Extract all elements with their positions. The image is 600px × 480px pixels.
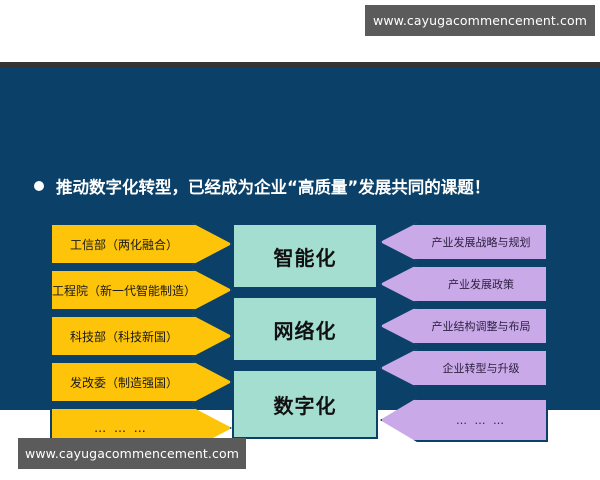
left-arrow-1-label: 工信部（两化融合） [70,236,178,253]
center-box-2-label: 网络化 [274,315,337,344]
slide-panel: 推动数字化转型，已经成为企业“高质量”发展共同的课题！ 工信部（两化融合） 工程… [0,68,600,410]
center-box-1[interactable]: 智能化 [232,223,378,289]
right-arrow-3-label: 产业结构调整与布局 [432,318,531,334]
watermark-text-top: www.cayugacommencement.com [373,13,587,28]
right-arrow-5-label: … … … [456,414,506,427]
right-arrow-4-label: 企业转型与升级 [443,360,520,376]
right-arrow-4[interactable]: 企业转型与升级 [380,349,548,387]
left-arrow-2-label: 工程院（新一代智能制造） [52,282,196,299]
right-arrow-1-label: 产业发展战略与规划 [432,234,531,250]
watermark-banner-bottom: www.cayugacommencement.com [18,438,246,469]
left-arrow-4-label: 发改委（制造强国） [70,374,178,391]
center-box-2[interactable]: 网络化 [232,296,378,362]
left-arrow-5-label: … … … [94,421,148,435]
left-arrow-3-label: 科技部（科技新国） [70,328,178,345]
left-arrow-2[interactable]: 工程院（新一代智能制造） [50,269,232,311]
bullet-dot-icon [34,181,44,191]
slide-title: 推动数字化转型，已经成为企业“高质量”发展共同的课题！ [56,174,490,198]
left-arrow-1[interactable]: 工信部（两化融合） [50,223,232,265]
center-box-3[interactable]: 数字化 [232,369,378,439]
slide-title-row: 推动数字化转型，已经成为企业“高质量”发展共同的课题！ [34,172,574,200]
slide-screenshot: www.cayugacommencement.com 推动数字化转型，已经成为企… [0,0,600,480]
right-arrow-3[interactable]: 产业结构调整与布局 [380,307,548,345]
center-box-1-label: 智能化 [274,242,337,271]
right-arrow-2[interactable]: 产业发展政策 [380,265,548,303]
diagram-area: 工信部（两化融合） 工程院（新一代智能制造） 科技部（科技新国） 发改委（制造强… [0,218,600,450]
watermark-text-bottom: www.cayugacommencement.com [25,446,239,461]
center-box-3-label: 数字化 [274,390,337,419]
right-arrow-2-label: 产业发展政策 [448,276,514,292]
left-arrow-4[interactable]: 发改委（制造强国） [50,361,232,403]
left-arrow-3[interactable]: 科技部（科技新国） [50,315,232,357]
right-arrow-5[interactable]: … … … [380,398,548,442]
watermark-banner-top: www.cayugacommencement.com [365,5,595,36]
right-arrow-1[interactable]: 产业发展战略与规划 [380,223,548,261]
